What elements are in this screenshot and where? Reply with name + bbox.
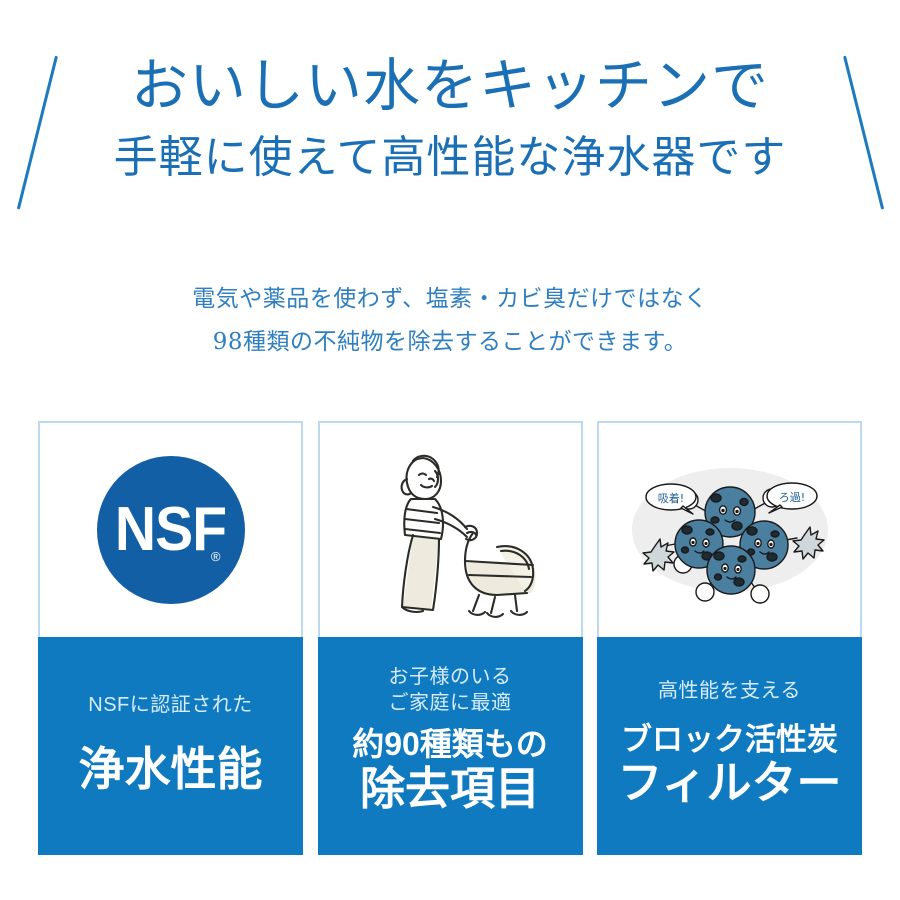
subcopy-line-2: 98種類の不純物を除去することができます。: [0, 321, 900, 364]
card-title: 除去項目: [360, 764, 540, 814]
mother-with-stroller-illustration-icon: [355, 435, 545, 625]
card-media-stroller: [318, 421, 583, 637]
card-subtitle-line-2: ご家庭に最適: [389, 690, 512, 716]
card-subtitle: お子様のいる ご家庭に最適: [389, 664, 512, 716]
subcopy-block: 電気や薬品を使わず、塩素・カビ臭だけではなく 98種類の不純物を除去することがで…: [0, 278, 900, 363]
card-midtitle: ブロック活性炭: [621, 722, 838, 759]
card-subtitle: 高性能を支える: [658, 678, 801, 704]
headline-secondary: 手軽に使えて高性能な浄水器です: [0, 128, 900, 187]
card-body-carbon-filter: 高性能を支える ブロック活性炭 フィルター: [597, 637, 862, 855]
nsf-certification-logo-icon: NSF ®: [97, 456, 245, 604]
card-media-carbon: 吸着! ろ過!: [597, 421, 862, 637]
speech-bubble-left-text: 吸着!: [657, 491, 683, 505]
feature-card-list: NSF ® NSFに認証された 浄水性能: [38, 421, 862, 855]
card-media-nsf: NSF ®: [38, 421, 303, 637]
card-subtitle: NSFに認証された: [88, 692, 253, 718]
card-midtitle: 約90種類もの: [352, 726, 548, 764]
headline-block: おいしい水をキッチンで 手軽に使えて高性能な浄水器です: [0, 52, 900, 187]
feature-card-carbon-filter[interactable]: 吸着! ろ過! 高性能を支える ブロック活性炭 フィルター: [597, 421, 862, 855]
card-title: フィルター: [617, 758, 841, 808]
card-title: 浄水性能: [79, 744, 263, 796]
activated-carbon-characters-illustration-icon: 吸着! ろ過!: [615, 450, 845, 610]
registered-trademark-icon: ®: [211, 550, 221, 563]
feature-card-nsf[interactable]: NSF ® NSFに認証された 浄水性能: [38, 421, 303, 855]
speech-bubble-right-text: ろ過!: [778, 491, 804, 504]
nsf-logo-text: NSF: [115, 499, 226, 561]
promo-page: おいしい水をキッチンで 手軽に使えて高性能な浄水器です 電気や薬品を使わず、塩素…: [0, 0, 900, 900]
card-body-nsf: NSFに認証された 浄水性能: [38, 637, 303, 855]
headline-primary: おいしい水をキッチンで: [0, 52, 900, 122]
card-subtitle-line-1: お子様のいる: [389, 664, 512, 690]
feature-card-removal-items[interactable]: お子様のいる ご家庭に最適 約90種類もの 除去項目: [318, 421, 583, 855]
subcopy-line-1: 電気や薬品を使わず、塩素・カビ臭だけではなく: [0, 278, 900, 321]
card-body-removal-items: お子様のいる ご家庭に最適 約90種類もの 除去項目: [318, 637, 583, 855]
